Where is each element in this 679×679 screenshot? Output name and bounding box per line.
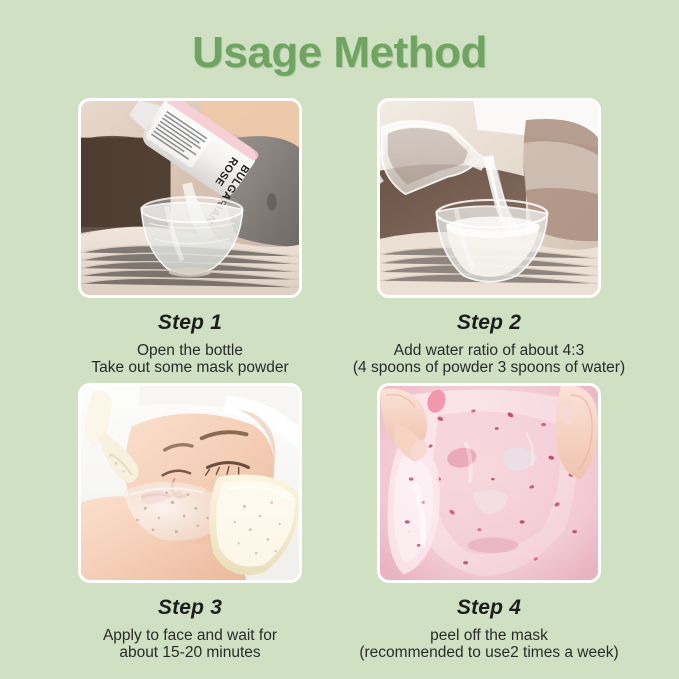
step-label: Step 3 bbox=[78, 596, 302, 620]
step-card-2: Step 2 Add water ratio of about 4:3 (4 s… bbox=[377, 98, 601, 377]
step-description: Apply to face and wait for about 15-20 m… bbox=[65, 627, 315, 662]
page-title: Usage Method bbox=[0, 28, 679, 78]
usage-method-poster: Usage Method bbox=[0, 0, 679, 679]
step-description-line: Take out some mask powder bbox=[78, 359, 302, 376]
step-card-1: BULGARIAN ROSE St bbox=[78, 98, 302, 377]
step-description: peel off the mask (recommended to use2 t… bbox=[339, 627, 639, 662]
photo-pouring-water-into-bowl bbox=[377, 98, 601, 298]
step-description-line: (4 spoons of powder 3 spoons of water) bbox=[339, 359, 639, 376]
photo-peeling-off-jelly-mask bbox=[377, 383, 601, 583]
step-card-4: Step 4 peel off the mask (recommended to… bbox=[377, 383, 601, 662]
step-description-line: (recommended to use2 times a week) bbox=[339, 644, 639, 661]
photo-applying-mask-to-face bbox=[78, 383, 302, 583]
step-card-3: Step 3 Apply to face and wait for about … bbox=[78, 383, 302, 662]
step-description-line: Apply to face and wait for bbox=[65, 627, 315, 644]
step-label: Step 4 bbox=[377, 596, 601, 620]
step-description-line: peel off the mask bbox=[339, 627, 639, 644]
step-description: Add water ratio of about 4:3 (4 spoons o… bbox=[339, 342, 639, 377]
step-description: Open the bottle Take out some mask powde… bbox=[78, 342, 302, 377]
step-description-line: Add water ratio of about 4:3 bbox=[339, 342, 639, 359]
step-label: Step 1 bbox=[78, 311, 302, 335]
step-description-line: Open the bottle bbox=[78, 342, 302, 359]
step-description-line: about 15-20 minutes bbox=[65, 644, 315, 661]
steps-grid: BULGARIAN ROSE St bbox=[78, 98, 601, 661]
step-label: Step 2 bbox=[377, 311, 601, 335]
photo-pouring-powder-from-bottle: BULGARIAN ROSE bbox=[78, 98, 302, 298]
